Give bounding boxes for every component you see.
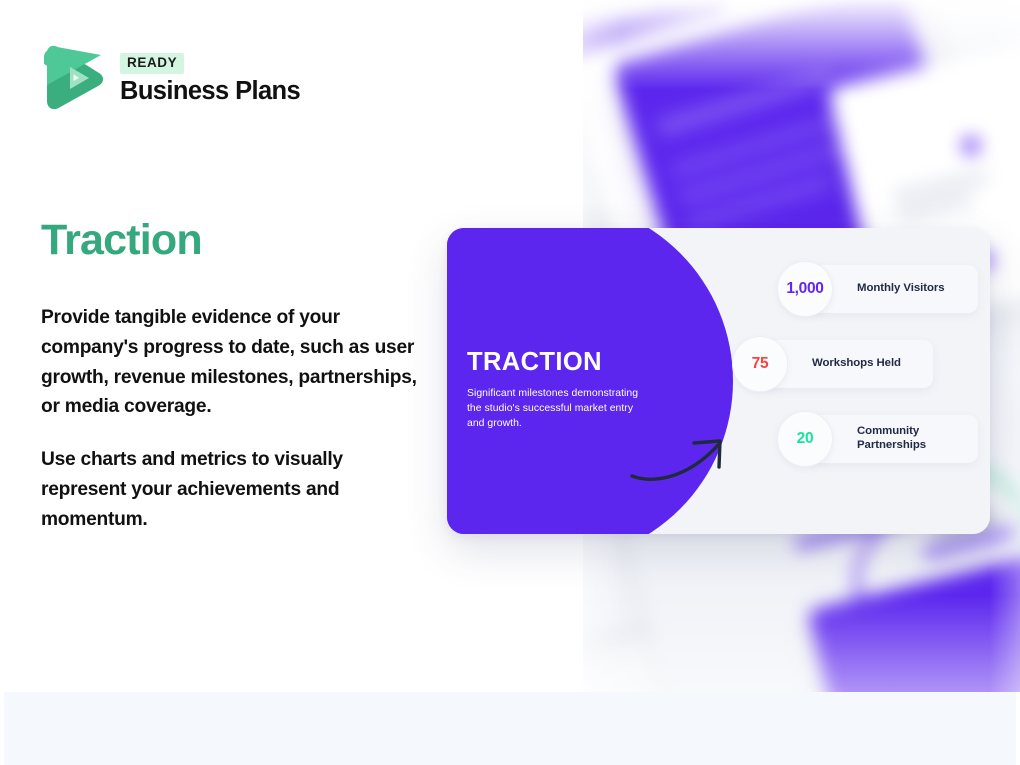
slide-preview-page: READY Business Plans Traction Provide ta… — [0, 0, 1020, 765]
metric-value: 75 — [752, 355, 769, 373]
play-triangle-logo-icon — [41, 40, 107, 114]
metric-value: 1,000 — [786, 280, 823, 298]
brand-title: Business Plans — [120, 77, 300, 105]
bottom-band — [4, 692, 1016, 765]
metric-circle: 1,000 — [777, 261, 833, 317]
traction-slide-card[interactable]: TRACTION Significant milestones demonstr… — [447, 228, 990, 534]
brand-text: READY Business Plans — [120, 49, 300, 104]
metric-pill: Monthly Visitors — [810, 265, 978, 313]
metric-label: Workshops Held — [812, 357, 901, 371]
metric-label: Community Partnerships — [857, 425, 949, 453]
slide-subtitle: Significant milestones demonstrating the… — [467, 386, 649, 431]
metric-row[interactable]: Workshops Held 75 — [732, 336, 987, 392]
metric-label: Monthly Visitors — [857, 282, 945, 296]
slide-title: TRACTION — [467, 348, 657, 376]
metric-circle: 75 — [732, 336, 788, 392]
body-paragraph-1: Provide tangible evidence of your compan… — [41, 303, 421, 422]
metric-circle: 20 — [777, 411, 833, 467]
page-title: Traction — [41, 218, 202, 263]
body-paragraph-2: Use charts and metrics to visually repre… — [41, 445, 421, 534]
metric-pill: Community Partnerships — [810, 415, 978, 463]
metric-pill: Workshops Held — [765, 340, 933, 388]
slide-heading-block: TRACTION Significant milestones demonstr… — [467, 348, 657, 431]
body-copy: Provide tangible evidence of your compan… — [41, 303, 421, 534]
metric-row[interactable]: Monthly Visitors 1,000 — [777, 261, 987, 317]
metric-row[interactable]: Community Partnerships 20 — [777, 411, 987, 467]
ready-badge: READY — [120, 53, 184, 73]
brand-lockup: READY Business Plans — [41, 40, 300, 114]
metric-value: 20 — [797, 430, 814, 448]
metrics-list: Monthly Visitors 1,000 Workshops Held 75… — [777, 261, 987, 467]
